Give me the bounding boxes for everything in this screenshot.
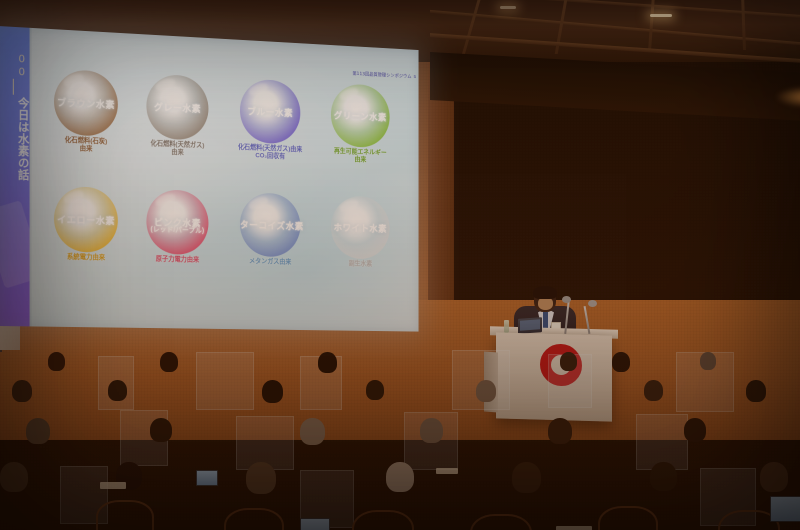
audience-head	[12, 380, 32, 402]
hydrogen-color-grid: ブラウン水素化石燃料(石炭)由来グレー水素化石燃料(天然ガス)由来ブルー水素化石…	[37, 68, 408, 322]
hydrogen-name: ホワイト水素	[331, 220, 390, 235]
hydrogen-caption: 再生可能エネルギー由来	[316, 147, 405, 165]
sidebar-decoration	[0, 200, 30, 288]
audience-head	[644, 380, 663, 401]
audience	[0, 350, 800, 530]
audience-head	[476, 380, 496, 402]
audience-head	[700, 352, 716, 370]
audience-head	[150, 418, 172, 442]
caption-line: メタンガス由来	[224, 257, 315, 266]
slide-panel-seam	[30, 28, 32, 327]
hydrogen-caption: 化石燃料(天然ガス)由来CO₂回収有	[224, 143, 315, 161]
hydrogen-name: グレー水素	[146, 99, 208, 116]
chair-back	[598, 506, 658, 530]
audience-paper	[556, 526, 592, 530]
audience-head	[48, 352, 65, 371]
audience-head	[246, 462, 276, 494]
audience-head	[26, 418, 50, 444]
audience-head	[548, 418, 572, 444]
hydrogen-subname: (レッド/パープル)	[146, 224, 208, 235]
hydrogen-sphere: ブルー水素	[240, 78, 300, 144]
projection-screen: 00 今日は水素の話 第113回品質管理シンポジウム 5 ブラウン水素化石燃料(…	[0, 26, 419, 332]
audience-head	[318, 352, 337, 373]
presentation-slide: 00 今日は水素の話 第113回品質管理シンポジウム 5 ブラウン水素化石燃料(…	[0, 26, 419, 332]
audience-head	[262, 380, 283, 403]
sidebar-rule	[13, 79, 14, 95]
hydrogen-name: ブラウン水素	[54, 95, 118, 112]
hydrogen-caption: 化石燃料(天然ガス)由来	[130, 139, 224, 158]
hydrogen-sphere: ブラウン水素	[54, 69, 118, 137]
hydrogen-sphere: ターコイズ水素	[240, 192, 300, 257]
hydrogen-caption: 系統電力由来	[37, 253, 134, 263]
conference-photo: 00 今日は水素の話 第113回品質管理シンポジウム 5 ブラウン水素化石燃料(…	[0, 0, 800, 530]
audience-paper	[436, 468, 458, 474]
hydrogen-item: ホワイト水素副生水素	[316, 195, 405, 269]
hydrogen-sphere: ホワイト水素	[331, 195, 390, 259]
audience-head	[746, 380, 766, 402]
audience-head	[560, 352, 577, 371]
laptop-screen	[520, 319, 540, 330]
sidebar-section-number: 00	[2, 52, 28, 79]
audience-head	[386, 462, 414, 492]
hydrogen-name: ブルー水素	[240, 103, 300, 119]
ceiling-light	[500, 6, 516, 9]
hydrogen-caption: 化石燃料(石炭)由来	[37, 136, 134, 155]
audience-head	[160, 352, 178, 372]
chair-back	[224, 508, 284, 530]
hydrogen-item: イエロー水素系統電力由来	[37, 185, 134, 262]
hydrogen-item: ピンク水素(レッド/パープル)原子力電力由来	[130, 189, 224, 265]
microphone-head	[588, 300, 597, 307]
hydrogen-item: ターコイズ水素メタンガス由来	[224, 192, 315, 267]
caption-line: 系統電力由来	[37, 253, 134, 263]
chair-back	[96, 500, 154, 530]
chair-back	[352, 510, 414, 530]
caption-line: 原子力電力由来	[130, 255, 224, 265]
caption-line: 副生水素	[316, 260, 405, 269]
audience-head	[0, 462, 28, 492]
audience-head	[650, 462, 677, 491]
hydrogen-sphere: ピンク水素(レッド/パープル)	[146, 189, 208, 255]
hydrogen-item: グリーン水素再生可能エネルギー由来	[316, 82, 405, 165]
audience-head	[420, 418, 443, 443]
audience-head	[684, 418, 706, 442]
audience-head	[512, 462, 541, 493]
audience-head	[300, 418, 325, 445]
hydrogen-sphere: グリーン水素	[331, 83, 390, 148]
slide-header-text: 第113回品質管理シンポジウム	[352, 71, 411, 80]
audience-head	[612, 352, 630, 372]
hydrogen-item: ブルー水素化石燃料(天然ガス)由来CO₂回収有	[224, 78, 315, 162]
audience-head	[108, 380, 127, 401]
wall-light-glow	[775, 86, 800, 108]
audience-paper	[100, 482, 126, 489]
hydrogen-sphere: グレー水素	[146, 74, 208, 141]
hydrogen-name: イエロー水素	[54, 212, 118, 228]
hydrogen-name: ターコイズ水素	[240, 217, 300, 232]
hydrogen-name: グリーン水素	[331, 108, 390, 124]
slide-page-number: 5	[414, 74, 416, 79]
audience-tablet	[0, 350, 2, 352]
hydrogen-caption: 原子力電力由来	[130, 255, 224, 265]
water-bottle	[504, 320, 509, 333]
slide-sidebar: 00 今日は水素の話	[0, 26, 30, 326]
hydrogen-item: グレー水素化石燃料(天然ガス)由来	[130, 73, 224, 158]
ceiling-light	[650, 14, 672, 17]
audience-head	[366, 380, 384, 400]
chair-back	[470, 514, 532, 530]
speaker-hair	[533, 286, 557, 299]
microphone-head	[562, 296, 571, 303]
audience-head	[760, 462, 788, 492]
audience-tablet	[300, 518, 330, 530]
audience-tablet	[770, 496, 800, 522]
sidebar-vertical-title: 今日は水素の話	[1, 96, 29, 181]
audience-tablet	[196, 470, 218, 486]
acrylic-divider	[196, 352, 254, 410]
hydrogen-caption: メタンガス由来	[224, 257, 315, 266]
hydrogen-sphere: イエロー水素	[54, 186, 118, 253]
hydrogen-caption: 副生水素	[316, 260, 405, 269]
hydrogen-item: ブラウン水素化石燃料(石炭)由来	[37, 68, 134, 154]
